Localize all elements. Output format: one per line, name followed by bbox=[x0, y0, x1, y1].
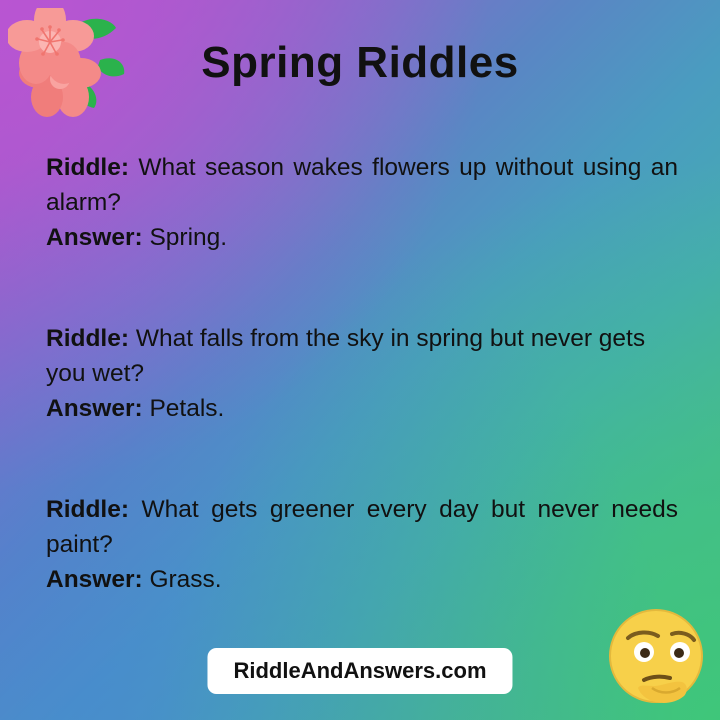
riddle-answer-line: Answer: Grass. bbox=[46, 562, 678, 597]
riddle-question-text: What season wakes flowers up without usi… bbox=[46, 154, 678, 216]
riddle-question-line: Riddle: What season wakes flowers up wit… bbox=[46, 150, 678, 220]
cherry-blossom-icon bbox=[8, 8, 128, 120]
riddle-question-line: Riddle: What gets greener every day but … bbox=[46, 492, 678, 562]
riddle-label: Riddle: bbox=[46, 325, 136, 352]
thinking-face-icon bbox=[600, 604, 712, 716]
riddle-answer-line: Answer: Petals. bbox=[46, 391, 678, 426]
answer-label: Answer: bbox=[46, 566, 149, 593]
riddle-question-text: What gets greener every day but never ne… bbox=[46, 496, 678, 558]
riddle-answer-text: Petals. bbox=[149, 395, 224, 422]
riddle-answer-line: Answer: Spring. bbox=[46, 220, 678, 255]
riddle-card: Spring Riddles Riddle: What season wakes… bbox=[0, 0, 720, 720]
riddle-item: Riddle: What falls from the sky in sprin… bbox=[46, 321, 678, 426]
footer-badge: RiddleAndAnswers.com bbox=[207, 648, 512, 694]
riddle-item: Riddle: What gets greener every day but … bbox=[46, 492, 678, 597]
riddle-label: Riddle: bbox=[46, 154, 138, 181]
answer-label: Answer: bbox=[46, 224, 149, 251]
site-name: RiddleAndAnswers.com bbox=[233, 658, 486, 683]
riddle-question-text: What falls from the sky in spring but ne… bbox=[46, 325, 645, 387]
answer-label: Answer: bbox=[46, 395, 149, 422]
riddle-answer-text: Grass. bbox=[149, 566, 221, 593]
riddles-list: Riddle: What season wakes flowers up wit… bbox=[46, 150, 678, 663]
riddle-question-line: Riddle: What falls from the sky in sprin… bbox=[46, 321, 678, 391]
riddle-label: Riddle: bbox=[46, 496, 141, 523]
riddle-item: Riddle: What season wakes flowers up wit… bbox=[46, 150, 678, 255]
riddle-answer-text: Spring. bbox=[149, 224, 227, 251]
